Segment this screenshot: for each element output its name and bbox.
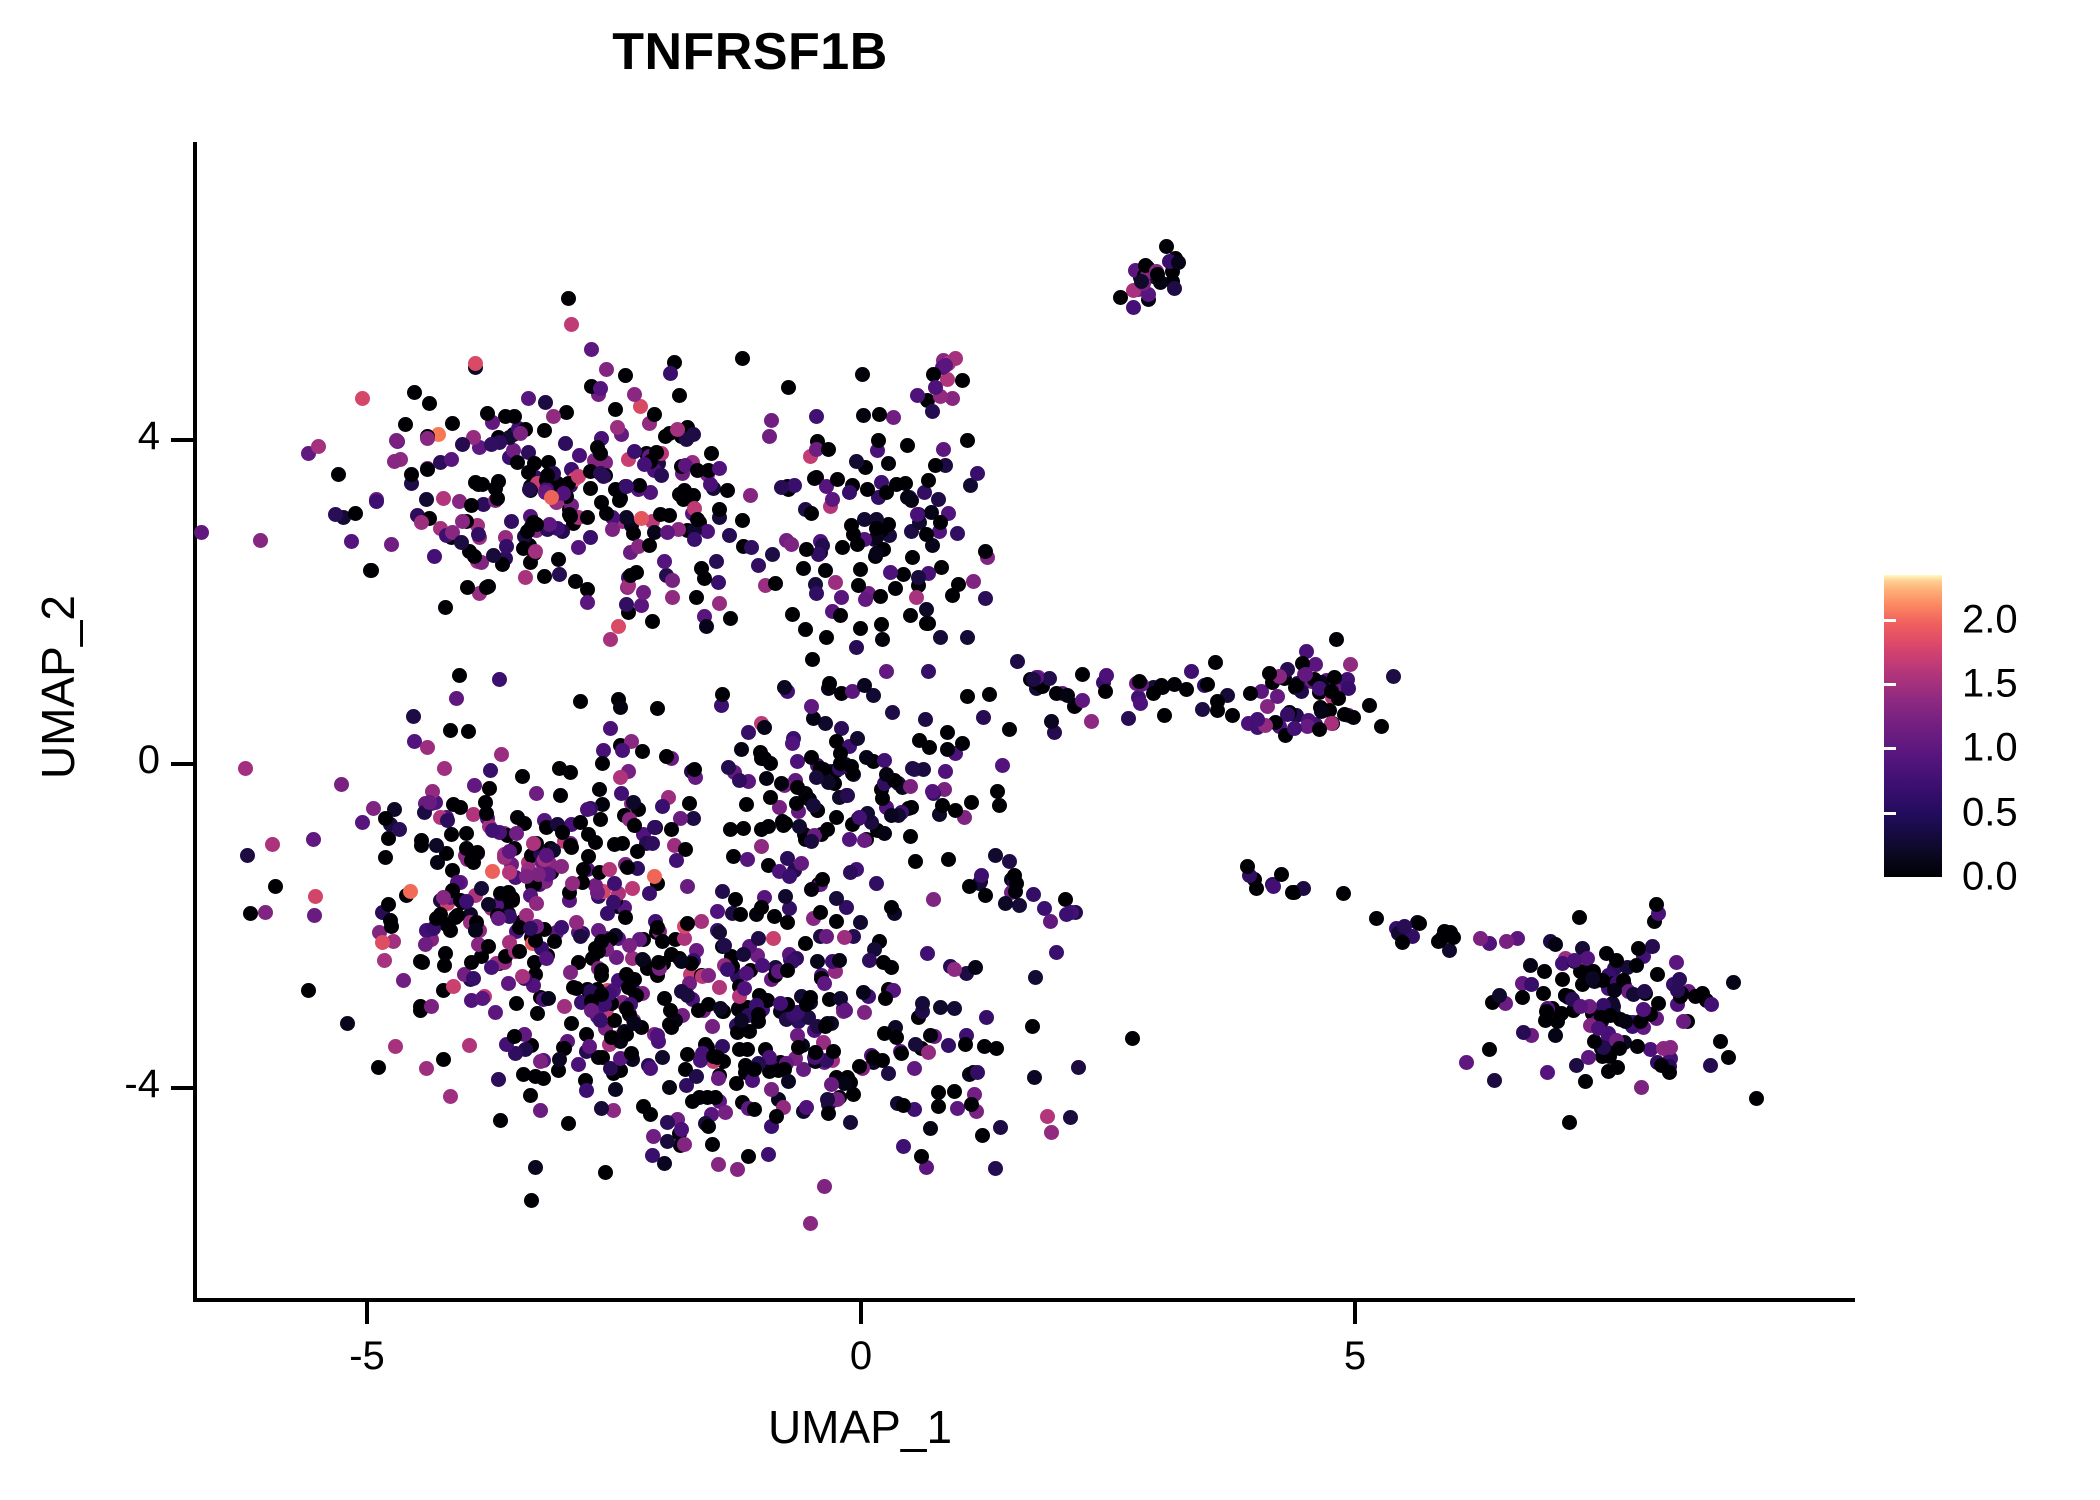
scatter-point [464,853,479,868]
scatter-point [639,836,654,851]
scatter-point [1601,981,1616,996]
scatter-point [921,566,936,581]
scatter-point [580,510,595,525]
scatter-point [331,467,346,482]
scatter-point [471,477,486,492]
scatter-point [689,943,704,958]
scatter-point [751,1056,766,1071]
scatter-point [825,1053,840,1068]
scatter-point [819,1053,834,1068]
scatter-point [680,523,695,538]
scatter-point [948,351,963,366]
scatter-point [764,1059,779,1074]
scatter-point [938,764,953,779]
scatter-point [1589,1015,1604,1030]
scatter-point [689,1069,704,1084]
scatter-point [501,976,516,991]
scatter-point [530,1006,545,1021]
scatter-point [705,1019,720,1034]
scatter-point [488,493,503,508]
scatter-point [608,928,623,943]
scatter-point [794,856,809,871]
scatter-point [467,778,482,793]
scatter-point [712,1068,727,1083]
scatter-point [853,915,868,930]
scatter-point [619,597,634,612]
scatter-point [568,574,583,589]
scatter-point [590,885,605,900]
scatter-point [1133,696,1148,711]
scatter-point [651,456,666,471]
scatter-point [1581,1050,1596,1065]
scatter-point [611,1030,626,1045]
scatter-point [925,538,940,553]
scatter-point [1274,867,1289,882]
scatter-point [1146,686,1161,701]
scatter-point [760,993,775,1008]
legend-tick-mark [1884,747,1896,750]
scatter-point [900,490,915,505]
scatter-point [389,433,404,448]
scatter-point [422,795,437,810]
scatter-point [1250,720,1265,735]
scatter-point [729,1076,744,1091]
scatter-point [1548,1028,1563,1043]
scatter-point [1324,684,1339,699]
scatter-point [599,506,614,521]
scatter-point [436,983,451,998]
scatter-point [539,820,554,835]
scatter-point [979,1010,994,1025]
scatter-point [637,457,652,472]
scatter-point [859,750,874,765]
scatter-point [524,848,539,863]
scatter-point [735,1095,750,1110]
scatter-point [634,511,649,526]
scatter-point [1651,906,1666,921]
scatter-point [875,791,890,806]
scatter-point [794,989,809,1004]
scatter-point [1583,1018,1598,1033]
scatter-point [941,356,956,371]
scatter-point [808,1045,823,1060]
scatter-point [763,790,778,805]
scatter-point [584,342,599,357]
scatter-point [1498,996,1513,1011]
scatter-point [829,914,844,929]
scatter-point [852,810,867,825]
scatter-point [544,490,559,505]
scatter-point [492,672,507,687]
scatter-point [472,440,487,455]
scatter-point [816,1035,831,1050]
scatter-point [420,461,435,476]
scatter-point [306,832,321,847]
scatter-point [449,691,464,706]
scatter-point [1515,990,1530,1005]
scatter-point [571,955,586,970]
scatter-point [978,591,993,606]
scatter-point [613,491,628,506]
scatter-point [529,896,544,911]
scatter-point [551,1063,566,1078]
scatter-point [751,558,766,573]
scatter-point [607,876,622,891]
scatter-point [497,955,512,970]
scatter-point [1625,1019,1640,1034]
scatter-point [621,980,636,995]
scatter-point [1638,986,1653,1001]
scatter-point [911,507,926,522]
scatter-point [480,811,495,826]
scatter-point [908,854,923,869]
scatter-point [1578,1074,1593,1089]
scatter-point [928,458,943,473]
scatter-point [525,936,540,951]
scatter-point [505,891,520,906]
scatter-point [1595,973,1610,988]
scatter-point [790,754,805,769]
scatter-point [489,898,504,913]
scatter-point [633,399,648,414]
scatter-point [834,721,849,736]
scatter-point [1662,1065,1677,1080]
scatter-point [1258,718,1273,733]
scatter-point [1670,983,1685,998]
scatter-point [1650,967,1665,982]
scatter-point [1374,719,1389,734]
scatter-point [1596,998,1611,1013]
scatter-point [1141,292,1156,307]
scatter-point [647,407,662,422]
scatter-point [1726,975,1741,990]
scatter-point [761,858,776,873]
scatter-point [1324,716,1339,731]
scatter-point [1064,905,1079,920]
scatter-point [510,455,525,470]
scatter-point [886,983,901,998]
scatter-point [641,1058,656,1073]
scatter-point [553,788,568,803]
scatter-point [988,1161,1003,1176]
scatter-point [919,527,934,542]
scatter-point [573,694,588,709]
scatter-point [627,444,642,459]
scatter-point [694,561,709,576]
scatter-point [700,1040,715,1055]
scatter-point [671,522,686,537]
scatter-point [1558,988,1573,1003]
scatter-point [468,356,483,371]
scatter-point [1617,978,1632,993]
scatter-point [579,1044,594,1059]
scatter-point [1369,911,1384,926]
scatter-point [843,1075,858,1090]
scatter-point [777,778,792,793]
scatter-point [885,705,900,720]
scatter-point [978,544,993,559]
scatter-point [445,883,460,898]
scatter-point [1068,905,1083,920]
scatter-point [687,501,702,516]
scatter-point [468,888,483,903]
scatter-point [968,960,983,975]
scatter-point [328,507,343,522]
scatter-point [636,827,651,842]
scatter-point [630,861,645,876]
scatter-point [921,1045,936,1060]
scatter-point [674,459,689,474]
scatter-point [758,578,773,593]
scatter-point [730,1025,745,1040]
scatter-point [1023,672,1038,687]
scatter-point [526,978,541,993]
scatter-point [856,985,871,1000]
scatter-point [864,1048,879,1063]
scatter-point [823,764,838,779]
scatter-point [804,834,819,849]
x-tick-label: -5 [287,1334,447,1379]
scatter-point [970,1065,985,1080]
scatter-point [725,959,740,974]
scatter-point [383,913,398,928]
scatter-point [430,855,445,870]
scatter-point [903,608,918,623]
scatter-point [483,763,498,778]
scatter-point [563,765,578,780]
scatter-point [823,499,838,514]
scatter-point [849,454,864,469]
scatter-point [439,528,454,543]
scatter-point [838,757,853,772]
scatter-point [926,786,941,801]
scatter-point [881,1066,896,1081]
scatter-point [562,502,577,517]
scatter-point [1515,976,1530,991]
scatter-point [680,988,695,1003]
scatter-point [437,958,452,973]
y-axis-title: UMAP_2 [31,367,85,1007]
scatter-point [914,1041,929,1056]
scatter-point [675,1008,690,1023]
scatter-point [1327,670,1342,685]
scatter-point [839,788,854,803]
scatter-point [563,965,578,980]
scatter-point [443,723,458,738]
scatter-point [613,1051,628,1066]
scatter-point [778,816,793,831]
scatter-point [1442,943,1457,958]
scatter-point [948,803,963,818]
scatter-point [524,519,539,534]
scatter-point [975,1128,990,1143]
scatter-point [1040,1109,1055,1124]
scatter-point [1538,1013,1553,1028]
scatter-point [960,630,975,645]
scatter-point [974,868,989,883]
scatter-point [655,1050,670,1065]
scatter-point [523,555,538,570]
scatter-point [605,510,620,525]
scatter-point [712,596,727,611]
scatter-point [632,932,647,947]
scatter-point [378,811,393,826]
scatter-point [501,906,516,921]
scatter-point [618,368,633,383]
scatter-point [566,980,581,995]
scatter-point [1313,700,1328,715]
scatter-point [1688,989,1703,1004]
scatter-point [938,458,953,473]
scatter-point [963,478,978,493]
scatter-point [697,609,712,624]
scatter-point [1294,684,1309,699]
scatter-point [852,1059,867,1074]
scatter-point [491,911,506,926]
scatter-point [384,919,399,934]
scatter-point [980,550,995,565]
scatter-point [1672,972,1687,987]
scatter-point [680,420,695,435]
scatter-point [253,533,268,548]
scatter-point [686,427,701,442]
scatter-point [497,826,512,841]
scatter-point [1582,999,1597,1014]
scatter-point [643,1061,658,1076]
scatter-point [463,907,478,922]
scatter-point [414,838,429,853]
y-axis-line [193,142,197,1302]
scatter-point [492,956,507,971]
scatter-point [460,580,475,595]
scatter-point [384,537,399,552]
scatter-point [1296,881,1311,896]
scatter-point [640,961,655,976]
scatter-point [822,992,837,1007]
scatter-point [599,931,614,946]
scatter-point [937,782,952,797]
scatter-point [1704,997,1719,1012]
scatter-point [817,1055,832,1070]
scatter-point [308,889,323,904]
scatter-point [785,954,800,969]
scatter-point [729,1018,744,1033]
scatter-point [662,508,677,523]
scatter-point [813,545,828,560]
scatter-point [736,539,751,554]
scatter-point [705,1137,720,1152]
scatter-point [674,429,689,444]
scatter-points-layer [0,0,2100,1500]
scatter-point [492,825,507,840]
scatter-point [839,900,854,915]
scatter-point [787,478,802,493]
scatter-point [908,1037,923,1052]
scatter-point [821,681,836,696]
scatter-point [488,481,503,496]
scatter-point [591,923,606,938]
scatter-point [810,803,825,818]
scatter-point [523,1088,538,1103]
scatter-point [630,844,645,859]
scatter-point [754,822,769,837]
scatter-point [404,476,419,491]
scatter-point [1075,667,1090,682]
scatter-point [858,592,873,607]
scatter-point [493,886,508,901]
scatter-point [521,855,536,870]
scatter-point [592,782,607,797]
scatter-point [938,358,953,373]
scatter-point [798,936,813,951]
scatter-point [708,1090,723,1105]
scatter-point [490,491,505,506]
scatter-point [684,764,699,779]
scatter-point [573,815,588,830]
scatter-point [866,1055,881,1070]
scatter-point [472,923,487,938]
scatter-point [547,487,562,502]
scatter-point [1606,976,1621,991]
scatter-point [558,436,573,451]
color-legend[interactable]: 2.01.51.00.50.0 [1884,575,2084,885]
scatter-point [1630,1039,1645,1054]
scatter-point [1042,671,1057,686]
scatter-point [634,598,649,613]
scatter-point [682,796,697,811]
scatter-point [934,560,949,575]
scatter-point [1049,945,1064,960]
scatter-point [747,1102,762,1117]
scatter-point [776,818,791,833]
scatter-point [528,470,543,485]
scatter-point [1055,686,1070,701]
scatter-point [593,1013,608,1028]
scatter-point [1266,879,1281,894]
scatter-point [1138,258,1153,273]
scatter-point [1210,703,1225,718]
scatter-point [923,1028,938,1043]
scatter-point [1539,1004,1554,1019]
scatter-point [484,437,499,452]
scatter-point [459,826,474,841]
scatter-point [537,569,552,584]
scatter-point [1272,719,1287,734]
scatter-point [493,1113,508,1128]
scatter-point [526,876,541,891]
scatter-point [1595,1049,1610,1064]
scatter-point [670,422,685,437]
scatter-point [636,953,651,968]
scatter-point [648,914,663,929]
scatter-point [713,1001,728,1016]
scatter-point [470,845,485,860]
scatter-point [775,814,790,829]
scatter-point [675,466,690,481]
scatter-point [814,968,829,983]
scatter-point [1312,685,1327,700]
scatter-point [369,494,384,509]
scatter-point [627,387,642,402]
scatter-point [869,530,884,545]
scatter-point [595,797,610,812]
scatter-point [846,929,861,944]
scatter-point [591,387,606,402]
scatter-point [657,554,672,569]
scatter-point [685,1094,700,1109]
x-axis-title: UMAP_1 [195,1400,1525,1454]
scatter-point [758,1042,773,1057]
